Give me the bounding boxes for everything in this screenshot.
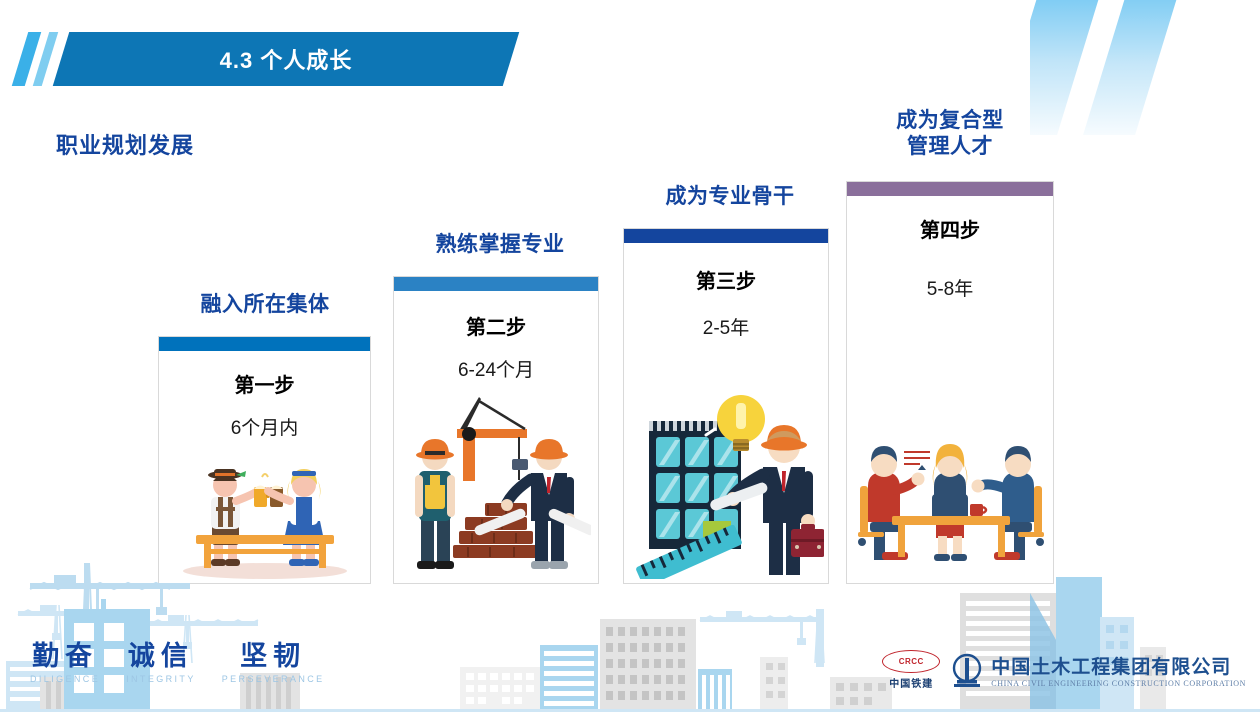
slogan-en-1: DILIGENCE [30, 674, 100, 684]
card-2-duration: 6-24个月 [394, 355, 598, 382]
company-name-block: 中国土木工程集团有限公司 CHINA CIVIL ENGINEERING CON… [991, 652, 1246, 688]
construction-workers-crane-icon [401, 389, 591, 579]
card-1-heading: 融入所在集体 [155, 292, 375, 318]
slogan-en-2: INTEGRITY [126, 674, 196, 684]
slogan-item-1: 勤奋 DILIGENCE [30, 634, 100, 684]
slide-canvas: 4.3 个人成长 职业规划发展 融入所在集体 第一步 6个月内 [0, 0, 1260, 712]
card-3-heading: 成为专业骨干 [620, 184, 840, 210]
crcc-logo-mark: CRCC [882, 650, 940, 673]
slogan-en-3: PERSEVERANCE [222, 674, 325, 684]
card-3-duration: 2-5年 [624, 313, 828, 340]
card-4-duration: 5-8年 [847, 274, 1053, 301]
card-4[interactable]: 第四步 5-8年 [846, 181, 1054, 584]
card-4-heading-line-1: 成为复合型 [840, 108, 1060, 134]
section-label: 职业规划发展 [56, 128, 194, 160]
top-right-stripes-decoration [1030, 0, 1260, 135]
card-4-heading-line-2: 管理人才 [840, 134, 1060, 160]
card-3[interactable]: 第三步 2-5年 [623, 228, 829, 584]
cce-emblem-icon [950, 652, 984, 688]
card-3-step: 第三步 [624, 265, 828, 294]
card-2-heading: 熟练掌握专业 [390, 232, 610, 258]
card-4-heading: 成为复合型 管理人才 [840, 108, 1060, 161]
banner-title-text: 4.3 个人成长 [61, 32, 511, 86]
slogan-item-2: 诚信 INTEGRITY [126, 634, 196, 684]
engineer-lightbulb-building-icon [629, 379, 824, 579]
slogan-item-3: 坚韧 PERSEVERANCE [222, 634, 325, 684]
card-4-step: 第四步 [847, 214, 1053, 243]
crcc-logo-text: CRCC [899, 657, 924, 666]
card-3-illustration [624, 379, 828, 579]
company-logo: 中国土木工程集团有限公司 CHINA CIVIL ENGINEERING CON… [950, 652, 1246, 688]
card-2-top-bar [394, 277, 598, 291]
company-name-en: CHINA CIVIL ENGINEERING CONSTRUCTION COR… [991, 679, 1246, 688]
slogan-group: 勤奋 DILIGENCE 诚信 INTEGRITY 坚韧 PERSEVERANC… [30, 634, 325, 684]
card-2-illustration [394, 389, 598, 579]
card-1-step: 第一步 [159, 369, 370, 398]
card-1[interactable]: 第一步 6个月内 [158, 336, 371, 584]
card-3-top-bar [624, 229, 828, 243]
slogan-cn-1: 勤奋 [32, 634, 98, 673]
decorative-stripe-3 [1153, 0, 1260, 135]
two-people-toasting-icon [170, 449, 360, 579]
slogan-cn-2: 诚信 [128, 634, 194, 673]
card-1-top-bar [159, 337, 370, 351]
company-name-cn: 中国土木工程集团有限公司 [991, 652, 1246, 679]
card-1-illustration [159, 449, 370, 579]
card-4-top-bar [847, 182, 1053, 196]
footer-logos: CRCC 中国铁建 中国土木工程集团有限公司 CHINA CIVIL ENGIN… [882, 650, 1246, 690]
slogan-cn-3: 坚韧 [240, 634, 306, 673]
decorative-stripe-2 [1079, 0, 1180, 135]
card-2[interactable]: 第二步 6-24个月 [393, 276, 599, 584]
card-4-illustration [847, 430, 1053, 580]
crcc-logo: CRCC 中国铁建 [882, 650, 940, 690]
crcc-logo-cn-text: 中国铁建 [889, 675, 933, 690]
card-1-duration: 6个月内 [159, 413, 370, 440]
card-2-step: 第二步 [394, 311, 598, 340]
three-people-meeting-icon [852, 430, 1048, 580]
